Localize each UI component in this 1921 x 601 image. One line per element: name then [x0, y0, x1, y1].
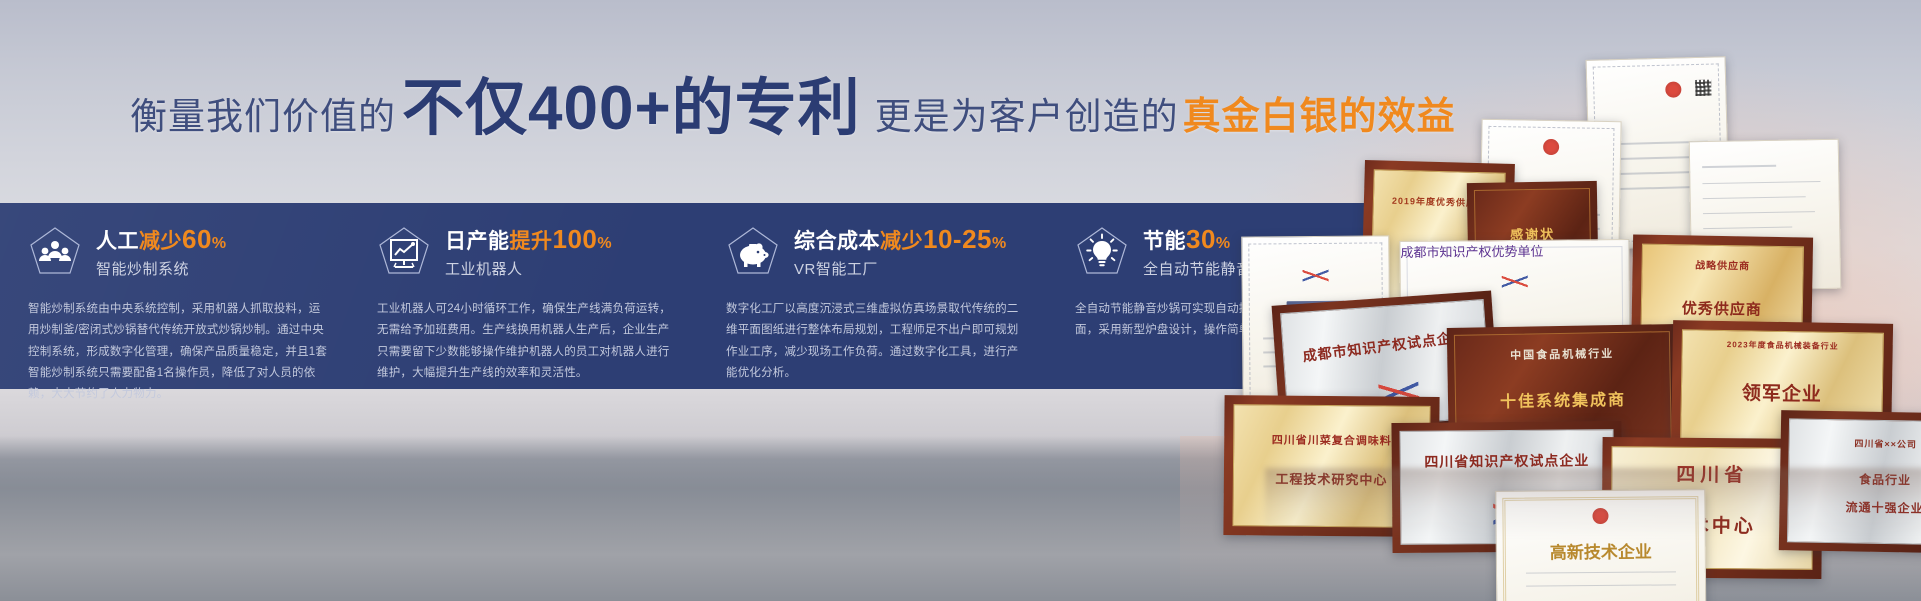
feature-card-header: 人工减少60% 智能炒制系统 [28, 225, 341, 279]
feature-card-cost: 综合成本减少10-25% VR智能工厂 数字化工厂以高度沉浸式三维虚拟仿真场景取… [708, 203, 1057, 389]
feature-card-description: 数字化工厂以高度沉浸式三维虚拟仿真场景取代传统的二维平面图纸进行整体布局规划，工… [726, 299, 1026, 384]
feature-card-title: 日产能提升100% [445, 225, 612, 254]
feature-card-description: 智能炒制系统由中央系统控制，采用机器人抓取投料，运用炒制釜/密闭式炒锅替代传统开… [28, 299, 328, 405]
headline-mid: 更是为客户创造的 [875, 86, 1179, 140]
feature-card-description: 工业机器人可24小时循环工作，确保生产线满负荷运转，无需给予加班费用。生产线换用… [377, 299, 677, 384]
certificate-wall: 2019年度优秀供应商 奖牌 感谢状 合作单位 成都市知识产权优势单位 战略供应… [1240, 40, 1921, 520]
feature-card-header: 综合成本减少10-25% VR智能工厂 [726, 225, 1039, 279]
headline-highlight: 不仅400+的专利 [402, 78, 861, 140]
headline-lead: 衡量我们价值的 [130, 86, 396, 140]
feature-card-titles: 人工减少60% 智能炒制系统 [96, 225, 227, 279]
people-group-icon [28, 225, 82, 279]
feature-card-subtitle: VR智能工厂 [794, 258, 1007, 279]
feature-card-list: 人工减少60% 智能炒制系统 智能炒制系统由中央系统控制，采用机器人抓取投料，运… [0, 203, 1416, 389]
feature-card-titles: 日产能提升100% 工业机器人 [445, 225, 612, 279]
feature-card-titles: 综合成本减少10-25% VR智能工厂 [794, 225, 1007, 279]
feature-card-subtitle: 工业机器人 [445, 258, 612, 279]
lightbulb-icon [1075, 225, 1129, 279]
feature-card-title: 综合成本减少10-25% [794, 225, 1007, 254]
feature-card-header: 日产能提升100% 工业机器人 [377, 225, 690, 279]
feature-card-title: 人工减少60% [96, 225, 227, 254]
certificate-item: 四川省××公司 食品行业 流通十强企业 [1779, 410, 1921, 554]
feature-card-subtitle: 智能炒制系统 [96, 258, 227, 279]
certificate-item: 高新技术企业 [1495, 489, 1706, 601]
feature-card-labor: 人工减少60% 智能炒制系统 智能炒制系统由中央系统控制，采用机器人抓取投料，运… [10, 203, 359, 389]
feature-card-capacity: 日产能提升100% 工业机器人 工业机器人可24小时循环工作，确保生产线满负荷运… [359, 203, 708, 389]
piggy-bank-icon [726, 225, 780, 279]
chart-board-icon [377, 225, 431, 279]
banner-stage: 衡量我们价值的 不仅400+的专利 更是为客户创造的 真金白银的效益 [0, 0, 1921, 601]
